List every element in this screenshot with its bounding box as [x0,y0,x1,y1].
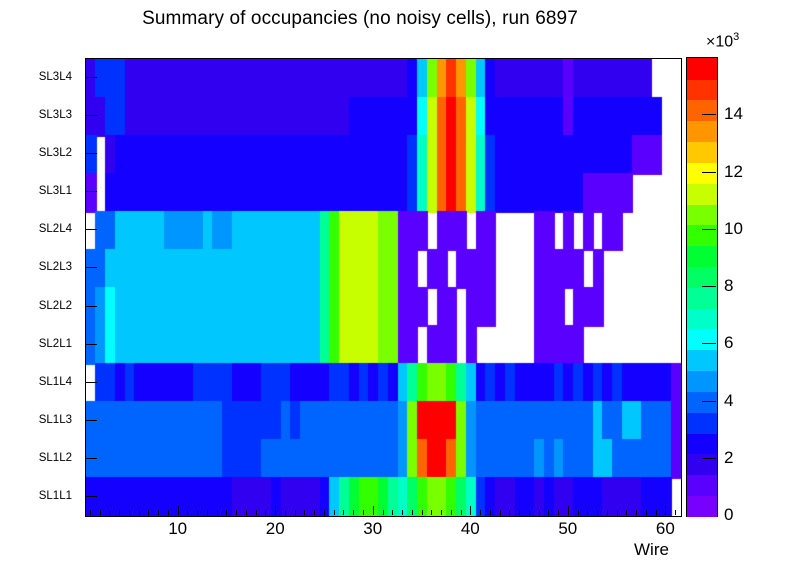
x-axis-tick [217,510,218,515]
y-axis-label-sl2l4: SL2L4 [39,223,72,235]
y-axis-labels: SL3L4SL3L3SL3L2SL3L1SL2L4SL2L3SL2L2SL2L1… [0,58,80,515]
x-axis-label-40: 40 [461,519,480,539]
x-axis-tick [295,510,296,515]
y-axis-tick [86,458,97,459]
x-axis-tick [500,510,501,515]
heatmap-canvas[interactable] [86,59,681,516]
x-axis-tick [587,510,588,515]
y-axis-tick [86,267,97,268]
palette-tick [702,229,716,230]
x-axis-label-50: 50 [558,519,577,539]
y-axis-label-sl3l2: SL3L2 [39,147,72,159]
x-axis-tick [129,510,130,515]
x-axis-tick [617,510,618,515]
x-axis-tick [392,510,393,515]
x-axis-tick [412,510,413,515]
x-axis-tick [334,510,335,515]
palette-tick-label-8: 8 [724,276,733,296]
y-axis-label-sl3l4: SL3L4 [39,71,72,83]
y-axis-label-sl1l4: SL1L4 [39,376,72,388]
x-axis-tick [256,510,257,515]
x-axis-tick [226,510,227,515]
y-axis-label-sl1l2: SL1L2 [39,452,72,464]
x-axis-tick [431,510,432,515]
palette-tick-label-4: 4 [724,391,733,411]
x-axis-tick [441,510,442,515]
x-axis-tick [646,510,647,515]
palette-tick [702,286,716,287]
y-axis-tick [86,229,97,230]
x-axis-tick [665,506,666,515]
x-axis-label-60: 60 [656,519,675,539]
x-axis-tick [168,510,169,515]
x-axis-labels: 102030405060 [85,517,685,547]
x-axis-tick [187,510,188,515]
x-axis-tick [402,510,403,515]
x-axis-tick [324,510,325,515]
palette-tick [702,114,716,115]
palette-tick-label-6: 6 [724,333,733,353]
y-axis-label-sl2l1: SL2L1 [39,338,72,350]
page-title: Summary of occupancies (no noisy cells),… [0,8,720,30]
plot-frame [85,58,682,517]
x-axis-tick [568,506,569,515]
x-axis-tick [139,510,140,515]
x-axis-tick [597,510,598,515]
y-axis-label-sl3l3: SL3L3 [39,109,72,121]
palette-tick-label-14: 14 [724,104,743,124]
x-axis-tick [422,510,423,515]
palette-tick [702,401,716,402]
x-axis-label-30: 30 [363,519,382,539]
x-axis-tick [383,510,384,515]
palette-axis: 02468101214 [686,57,786,515]
x-axis-tick [490,510,491,515]
palette-tick [702,458,716,459]
x-axis-tick [148,510,149,515]
y-axis-tick [86,191,97,192]
x-axis-tick [246,510,247,515]
x-axis-tick [343,510,344,515]
y-axis-tick [86,382,97,383]
y-axis-tick [86,344,97,345]
y-axis-tick [86,153,97,154]
x-axis-tick [304,510,305,515]
x-axis-tick [178,506,179,515]
y-axis-tick [86,306,97,307]
x-axis-tick [529,510,530,515]
x-axis-tick [470,506,471,515]
x-axis-tick [158,510,159,515]
x-axis-tick [90,510,91,515]
x-axis-tick [100,510,101,515]
palette-tick-label-10: 10 [724,219,743,239]
x-axis-tick [607,510,608,515]
x-axis-tick [451,510,452,515]
x-axis-tick [119,510,120,515]
x-axis-label-20: 20 [266,519,285,539]
x-axis-tick [461,510,462,515]
x-axis-tick [548,510,549,515]
palette-tick [702,172,716,173]
palette-tick-label-0: 0 [724,505,733,525]
x-axis-tick [353,510,354,515]
x-axis-title: Wire [634,540,669,560]
y-axis-tick [86,420,97,421]
x-axis-tick [373,506,374,515]
x-axis-tick [578,510,579,515]
y-axis-tick [86,115,97,116]
x-axis-tick [275,506,276,515]
x-axis-tick [285,510,286,515]
x-axis-tick [539,510,540,515]
y-axis-label-sl2l3: SL2L3 [39,261,72,273]
x-axis-tick [519,510,520,515]
x-axis-tick [314,510,315,515]
x-axis-tick [626,510,627,515]
x-axis-tick [480,510,481,515]
x-axis-tick [197,510,198,515]
palette-tick-label-12: 12 [724,162,743,182]
x-axis-tick [558,510,559,515]
x-axis-tick [656,510,657,515]
palette-tick [702,343,716,344]
y-axis-tick [86,77,97,78]
y-axis-label-sl3l1: SL3L1 [39,185,72,197]
x-axis-tick [236,510,237,515]
y-axis-tick [86,496,97,497]
palette-multiplier: ×103 [706,31,739,51]
root-canvas: Summary of occupancies (no noisy cells),… [0,0,796,572]
x-axis-tick [207,510,208,515]
x-axis-label-10: 10 [168,519,187,539]
y-axis-label-sl1l3: SL1L3 [39,414,72,426]
x-axis-tick [675,510,676,515]
x-axis-tick [509,510,510,515]
x-axis-tick [265,510,266,515]
palette-tick-label-2: 2 [724,448,733,468]
x-axis-tick [109,510,110,515]
y-axis-label-sl1l1: SL1L1 [39,490,72,502]
x-axis-tick [636,510,637,515]
y-axis-label-sl2l2: SL2L2 [39,300,72,312]
x-axis-tick [363,510,364,515]
